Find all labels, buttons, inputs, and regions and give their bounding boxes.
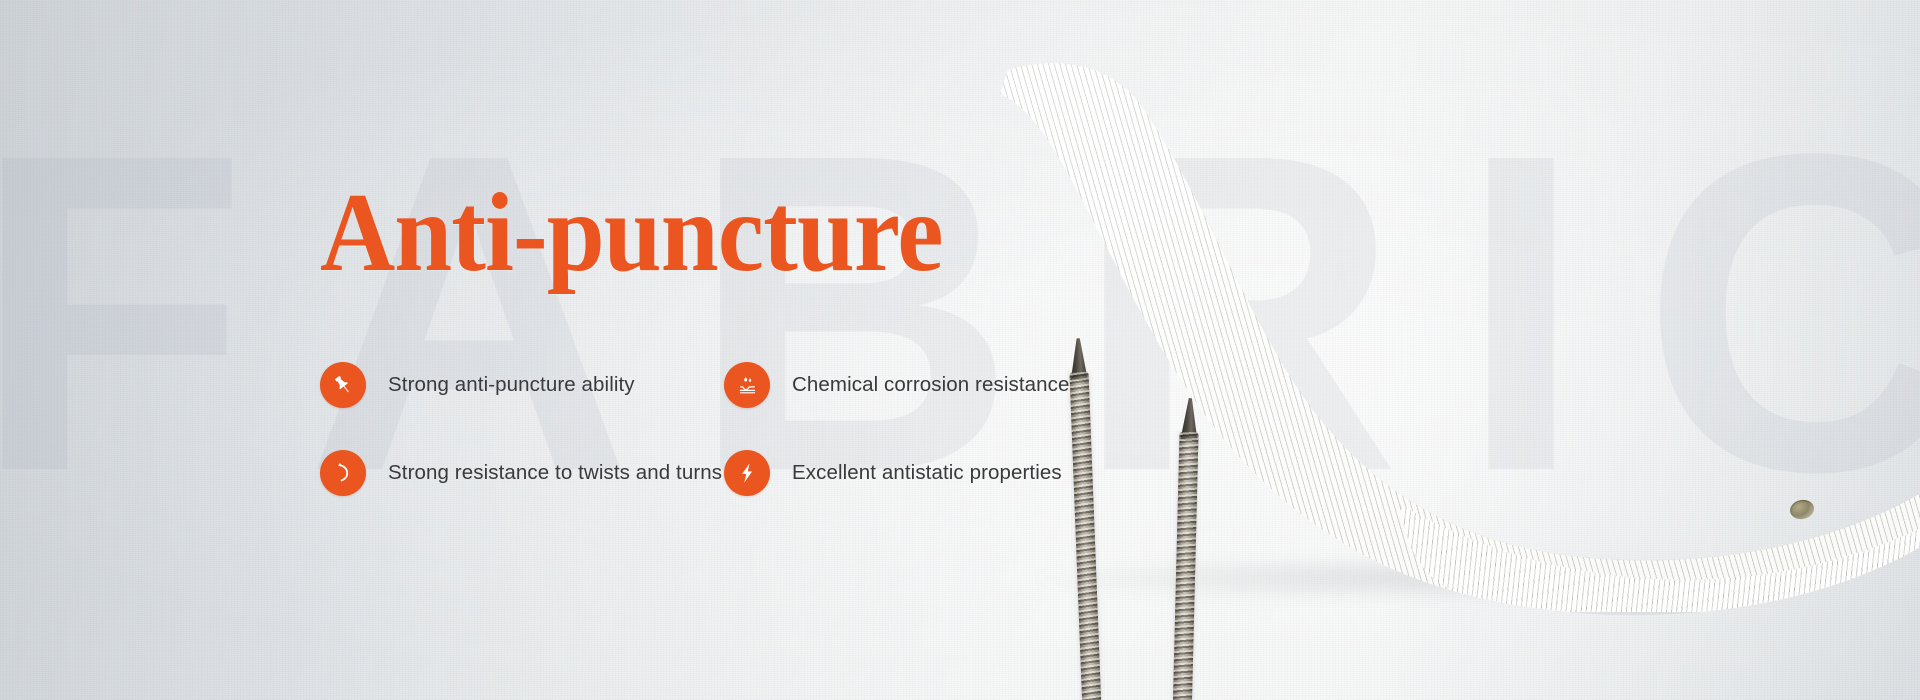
product-photo [980, 0, 1920, 700]
feature-label: Chemical corrosion resistance [792, 373, 1069, 397]
promo-banner: F A B R I C Anti-puncture [0, 0, 1920, 700]
feature-list: Strong anti-puncture ability Chemical co… [320, 362, 1150, 496]
copy-block: Anti-puncture Strong anti-puncture abili… [320, 176, 1040, 496]
lightning-bolt-icon [724, 450, 770, 496]
feature-label: Strong anti-puncture ability [388, 373, 635, 397]
feature-item-anti-puncture[interactable]: Strong anti-puncture ability [320, 362, 724, 408]
feature-label: Excellent antistatic properties [792, 461, 1062, 485]
woven-insole [980, 52, 1920, 612]
rotate-twist-icon [320, 450, 366, 496]
feature-item-chemical-corrosion[interactable]: Chemical corrosion resistance [724, 362, 1128, 408]
feature-item-antistatic[interactable]: Excellent antistatic properties [724, 450, 1128, 496]
watermark-letter-f: F [0, 119, 242, 508]
pushpin-icon [320, 362, 366, 408]
feature-label: Strong resistance to twists and turns [388, 461, 722, 485]
insole-heel-marking [1702, 478, 1801, 542]
page-title: Anti-puncture [320, 176, 990, 290]
corrosion-drop-icon [724, 362, 770, 408]
feature-item-twist-resistance[interactable]: Strong resistance to twists and turns [320, 450, 724, 496]
